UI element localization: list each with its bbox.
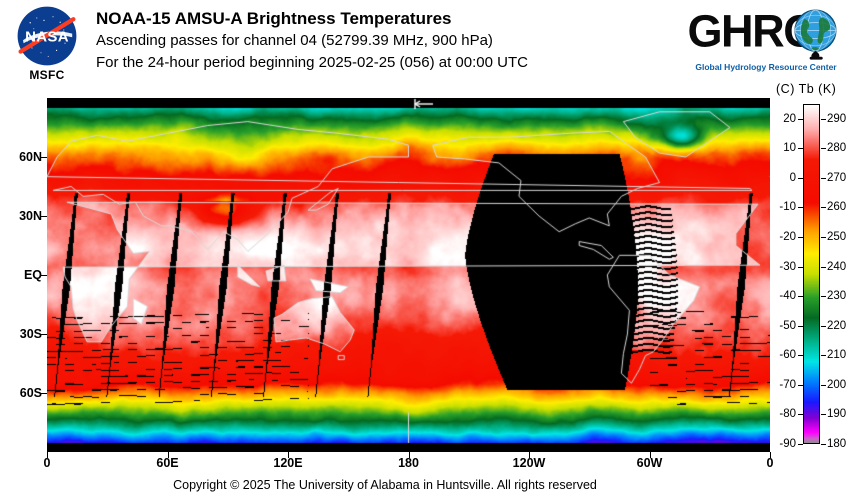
longitude-tick — [288, 452, 289, 458]
longitude-tick — [529, 452, 530, 458]
colorbar-gradient — [803, 104, 820, 444]
colorbar-header: (C) Tb (K) — [776, 82, 854, 96]
colorbar-tick-celsius — [798, 148, 803, 149]
colorbar-tick-celsius — [798, 237, 803, 238]
colorbar-label-celsius: -20 — [768, 231, 796, 243]
copyright-notice: Copyright © 2025 The University of Alaba… — [0, 478, 770, 492]
colorbar-label-kelvin: 230 — [827, 290, 854, 302]
colorbar-label-celsius: -10 — [768, 201, 796, 213]
latitude-tick — [41, 216, 47, 217]
colorbar-tick-celsius — [798, 414, 803, 415]
colorbar-tick-celsius — [798, 444, 803, 445]
colorbar-tick-kelvin — [821, 148, 826, 149]
longitude-label: 120W — [513, 456, 546, 470]
latitude-tick — [41, 157, 47, 158]
longitude-label: 120E — [273, 456, 302, 470]
colorbar-label-kelvin: 190 — [827, 408, 854, 420]
ghrc-logo: GHRC Global Hydrology Resource Center — [686, 4, 846, 82]
latitude-tick — [41, 334, 47, 335]
colorbar-tick-kelvin — [821, 385, 826, 386]
latitude-label: 60N — [0, 150, 42, 164]
longitude-tick — [168, 452, 169, 458]
longitude-tick — [770, 452, 771, 458]
colorbar-tick-celsius — [798, 355, 803, 356]
longitude-tick — [409, 452, 410, 458]
colorbar-tick-kelvin — [821, 207, 826, 208]
longitude-tick — [47, 452, 48, 458]
latitude-label: 60S — [0, 386, 42, 400]
colorbar-label-kelvin: 260 — [827, 201, 854, 213]
colorbar-tick-kelvin — [821, 267, 826, 268]
latitude-label: EQ — [0, 268, 42, 282]
colorbar-label-kelvin: 220 — [827, 320, 854, 332]
colorbar-label-kelvin: 210 — [827, 349, 854, 361]
longitude-tick — [650, 452, 651, 458]
colorbar-label-celsius: 10 — [768, 142, 796, 154]
colorbar-tick-kelvin — [821, 444, 826, 445]
longitude-label: 0 — [767, 456, 774, 470]
page-subtitle: Ascending passes for channel 04 (52799.3… — [96, 30, 676, 52]
nasa-center-label: MSFC — [8, 68, 86, 82]
colorbar-label-kelvin: 200 — [827, 379, 854, 391]
colorbar-label-kelvin: 270 — [827, 172, 854, 184]
brightness-temperature-map[interactable] — [47, 98, 770, 452]
colorbar-tick-kelvin — [821, 296, 826, 297]
nasa-logo: NASA MSFC — [8, 6, 86, 86]
colorbar-tick-celsius — [798, 385, 803, 386]
latitude-label: 30N — [0, 209, 42, 223]
map-canvas — [47, 98, 770, 452]
nasa-meatball-icon: NASA — [17, 6, 77, 66]
latitude-tick — [41, 275, 47, 276]
colorbar-label-kelvin: 180 — [827, 438, 854, 450]
title-block: NOAA-15 AMSU-A Brightness Temperatures A… — [96, 8, 676, 74]
latitude-tick — [41, 393, 47, 394]
colorbar-tick-celsius — [798, 207, 803, 208]
longitude-label: 180 — [398, 456, 419, 470]
screenshot-root: NASA MSFC NOAA-15 AMSU-A Brightness Temp… — [0, 0, 854, 502]
colorbar-label-celsius: 20 — [768, 113, 796, 125]
colorbar-label-celsius: -70 — [768, 379, 796, 391]
colorbar-label-celsius: -40 — [768, 290, 796, 302]
colorbar-tick-celsius — [798, 178, 803, 179]
colorbar-tick-kelvin — [821, 326, 826, 327]
colorbar-label-celsius: -80 — [768, 408, 796, 420]
longitude-label: 60E — [156, 456, 178, 470]
colorbar-tick-kelvin — [821, 414, 826, 415]
colorbar-label-kelvin: 250 — [827, 231, 854, 243]
colorbar-label-celsius: 0 — [768, 172, 796, 184]
colorbar-label-celsius: -90 — [768, 438, 796, 450]
ghrc-tagline: Global Hydrology Resource Center — [686, 62, 846, 72]
colorbar-label-celsius: -60 — [768, 349, 796, 361]
page-title: NOAA-15 AMSU-A Brightness Temperatures — [96, 8, 676, 30]
colorbar-label-celsius: -30 — [768, 261, 796, 273]
colorbar-tick-kelvin — [821, 119, 826, 120]
colorbar-tick-celsius — [798, 296, 803, 297]
ghrc-wordmark-icon: GHRC — [686, 4, 846, 60]
colorbar-tick-celsius — [798, 267, 803, 268]
colorbar-label-kelvin: 240 — [827, 261, 854, 273]
colorbar-tick-celsius — [798, 326, 803, 327]
longitude-label: 60W — [637, 456, 663, 470]
colorbar-tick-celsius — [798, 119, 803, 120]
page-period: For the 24-hour period beginning 2025-02… — [96, 52, 676, 74]
colorbar: (C) Tb (K) 20100-10-20-30-40-50-60-70-80… — [776, 82, 854, 472]
svg-text:NASA: NASA — [25, 28, 69, 45]
colorbar-label-kelvin: 290 — [827, 113, 854, 125]
longitude-label: 0 — [44, 456, 51, 470]
colorbar-label-celsius: -50 — [768, 320, 796, 332]
colorbar-label-kelvin: 280 — [827, 142, 854, 154]
colorbar-canvas — [804, 105, 819, 443]
colorbar-tick-kelvin — [821, 178, 826, 179]
colorbar-tick-kelvin — [821, 355, 826, 356]
latitude-label: 30S — [0, 327, 42, 341]
colorbar-tick-kelvin — [821, 237, 826, 238]
